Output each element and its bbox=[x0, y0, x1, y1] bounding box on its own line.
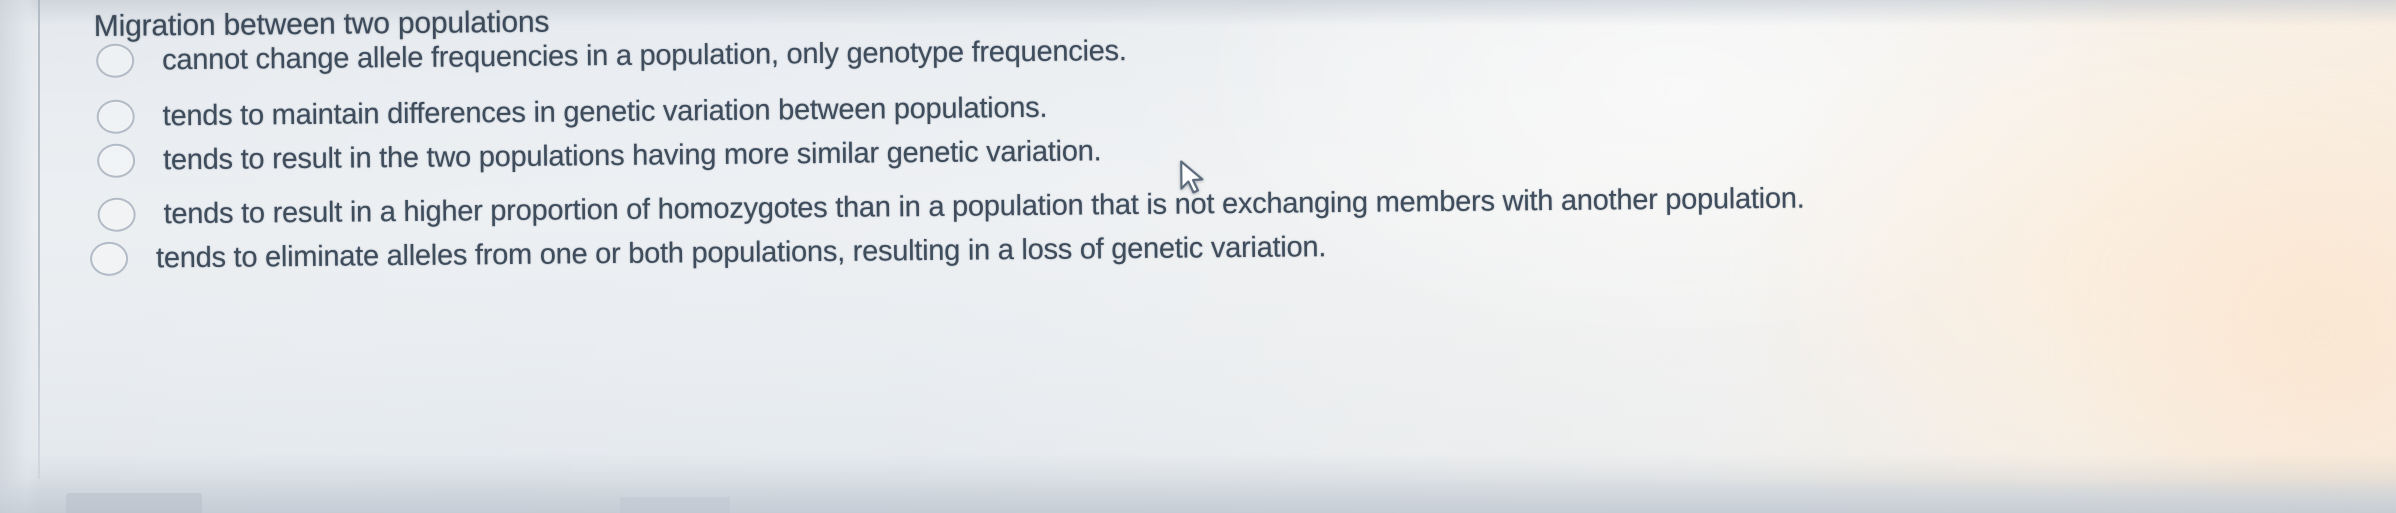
answer-option-label-b: tends to maintain differences in genetic… bbox=[163, 91, 1048, 132]
answer-option-label-e: tends to eliminate alleles from one or b… bbox=[156, 231, 1326, 275]
radio-button-icon-b[interactable] bbox=[97, 100, 135, 134]
radio-button-icon-c[interactable] bbox=[97, 144, 135, 178]
bottom-window-strip bbox=[0, 479, 2396, 513]
radio-button-icon-a[interactable] bbox=[96, 44, 134, 78]
answer-option-label-d: tends to result in a higher proportion o… bbox=[163, 182, 1804, 231]
answer-option-b[interactable]: tends to maintain differences in genetic… bbox=[97, 91, 1048, 134]
radio-button-icon-e[interactable] bbox=[90, 242, 128, 276]
screenshot-root: Migration between two populations cannot… bbox=[0, 0, 2396, 513]
radio-button-icon-d[interactable] bbox=[97, 198, 135, 232]
bottom-tab-left bbox=[66, 493, 202, 513]
page-title: Migration between two populations bbox=[94, 6, 550, 44]
mouse-cursor-icon bbox=[1178, 159, 1208, 197]
answer-option-e[interactable]: tends to eliminate alleles from one or b… bbox=[90, 230, 1326, 276]
answer-option-d[interactable]: tends to result in a higher proportion o… bbox=[97, 182, 1804, 232]
answer-option-c[interactable]: tends to result in the two populations h… bbox=[97, 134, 1102, 178]
bottom-tab-center bbox=[620, 497, 730, 513]
answer-option-label-c: tends to result in the two populations h… bbox=[163, 135, 1102, 177]
question-content: Migration between two populations cannot… bbox=[0, 0, 2396, 513]
